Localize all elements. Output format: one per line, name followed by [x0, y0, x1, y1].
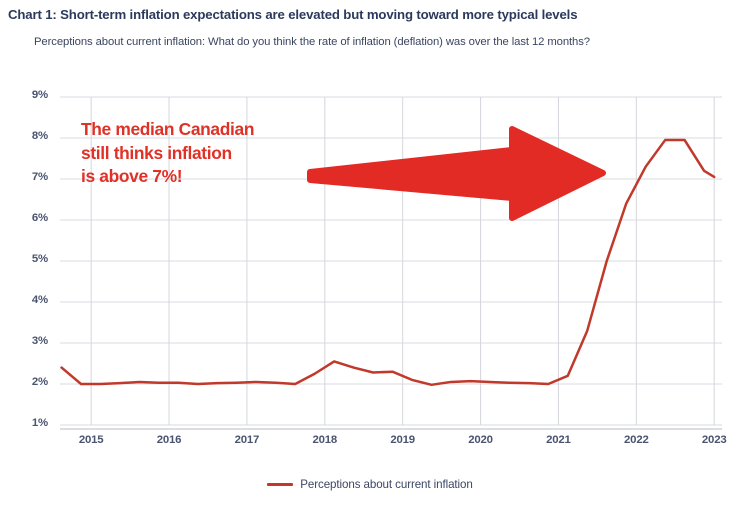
y-tick-label: 8%	[8, 130, 48, 142]
legend-line-swatch	[267, 483, 293, 486]
x-tick-label: 2016	[139, 434, 199, 446]
chart-page: Chart 1: Short-term inflation expectatio…	[0, 0, 740, 528]
y-tick-label: 9%	[8, 89, 48, 101]
x-tick-label: 2023	[684, 434, 740, 446]
y-tick-label: 3%	[8, 335, 48, 347]
y-tick-label: 7%	[8, 171, 48, 183]
red-right-arrow-icon	[310, 129, 603, 218]
y-tick-label: 1%	[8, 417, 48, 429]
annotation-callout-text: The median Canadian still thinks inflati…	[81, 118, 254, 189]
x-tick-label: 2022	[606, 434, 666, 446]
y-tick-label: 4%	[8, 294, 48, 306]
chart-canvas	[0, 0, 740, 528]
x-tick-label: 2021	[528, 434, 588, 446]
y-tick-label: 5%	[8, 253, 48, 265]
y-tick-label: 2%	[8, 376, 48, 388]
x-tick-label: 2017	[217, 434, 277, 446]
x-tick-label: 2019	[373, 434, 433, 446]
x-tick-label: 2018	[295, 434, 355, 446]
plot-area: 9%8%7%6%5%4%3%2%1% 201520162017201820192…	[0, 0, 740, 528]
legend-label: Perceptions about current inflation	[300, 478, 472, 491]
chart-legend: Perceptions about current inflation	[0, 478, 740, 491]
x-tick-label: 2020	[451, 434, 511, 446]
x-tick-label: 2015	[61, 434, 121, 446]
y-tick-label: 6%	[8, 212, 48, 224]
